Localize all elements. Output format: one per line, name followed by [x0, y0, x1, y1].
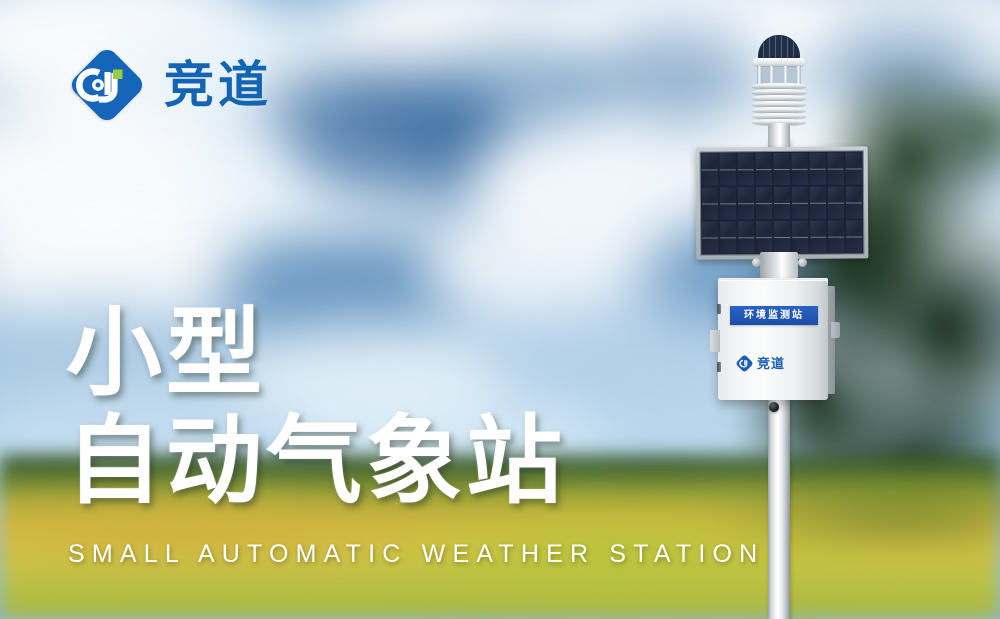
solar-cell	[810, 153, 826, 185]
sensor-neck-mount	[768, 123, 790, 149]
enclosure-banner: 环境监测站	[730, 306, 818, 325]
solar-cell	[846, 220, 862, 252]
jingdao-diamond-logo-icon	[68, 46, 146, 124]
solar-cell	[738, 187, 754, 219]
banner-canvas: 竞道 小型 自动气象站 SMALL AUTOMATIC WEATHER STAT…	[0, 0, 1000, 619]
enclosure-logo-glyph-svg	[736, 355, 753, 372]
solar-cell	[828, 153, 844, 185]
solar-cell	[738, 153, 754, 185]
solar-cell	[738, 221, 754, 253]
equipment-enclosure: 环境监测站 竞道	[718, 280, 828, 400]
enclosure-right-side	[828, 286, 835, 394]
solar-cell	[792, 187, 808, 219]
enclosure-latch-tab	[831, 322, 840, 338]
headline-line-2: 自动气象站	[66, 408, 566, 516]
solar-cell	[810, 187, 826, 219]
solar-panel-cell-grid	[700, 150, 865, 255]
solar-cell	[810, 221, 826, 253]
solar-cell	[756, 187, 772, 219]
solar-cell	[720, 153, 736, 185]
solar-cell	[828, 221, 844, 253]
solar-cell	[702, 221, 718, 253]
enclosure-hinge-lower	[717, 362, 721, 372]
bracket-bolt-left	[752, 258, 761, 267]
solar-cell	[774, 187, 790, 219]
solar-cell	[756, 221, 772, 253]
solar-cell	[702, 153, 718, 185]
solar-cell	[756, 153, 772, 185]
brand-name-text: 竞道	[164, 60, 272, 110]
solar-cell	[720, 187, 736, 219]
headline-line-1: 小型	[66, 300, 566, 408]
solar-cell	[720, 221, 736, 253]
headline-subtitle: SMALL AUTOMATIC WEATHER STATION	[68, 540, 764, 569]
ultrasonic-weather-sensor	[746, 35, 812, 150]
enclosure-brand-logo: 竞道	[736, 353, 816, 373]
jingdao-diamond-logo-icon-small	[736, 355, 753, 372]
bracket-bolt-right	[798, 258, 807, 267]
solar-cell	[828, 187, 844, 219]
solar-cell	[792, 221, 808, 253]
radiation-shield	[752, 83, 806, 127]
solar-cell	[846, 152, 862, 184]
solar-panel-mount-bracket	[760, 252, 798, 278]
brand-logo: 竞道	[68, 46, 272, 124]
logo-glyph-svg	[68, 46, 146, 124]
enclosure-banner-text: 环境监测站	[744, 311, 804, 321]
solar-cell	[774, 153, 790, 185]
solar-cell	[846, 186, 862, 218]
weather-station-product: 环境监测站 竞道	[690, 30, 920, 619]
enclosure-logo-text: 竞道	[757, 357, 785, 370]
enclosure-left-tab	[710, 330, 720, 352]
solar-cell	[792, 153, 808, 185]
enclosure-hinge-upper	[717, 304, 721, 314]
solar-cell	[702, 187, 718, 219]
solar-panel	[696, 146, 869, 259]
headline-block: 小型 自动气象站	[66, 300, 566, 515]
sensor-support-pillars	[757, 66, 801, 84]
solar-cell	[774, 221, 790, 253]
enclosure-bottom-sensor	[769, 402, 779, 412]
